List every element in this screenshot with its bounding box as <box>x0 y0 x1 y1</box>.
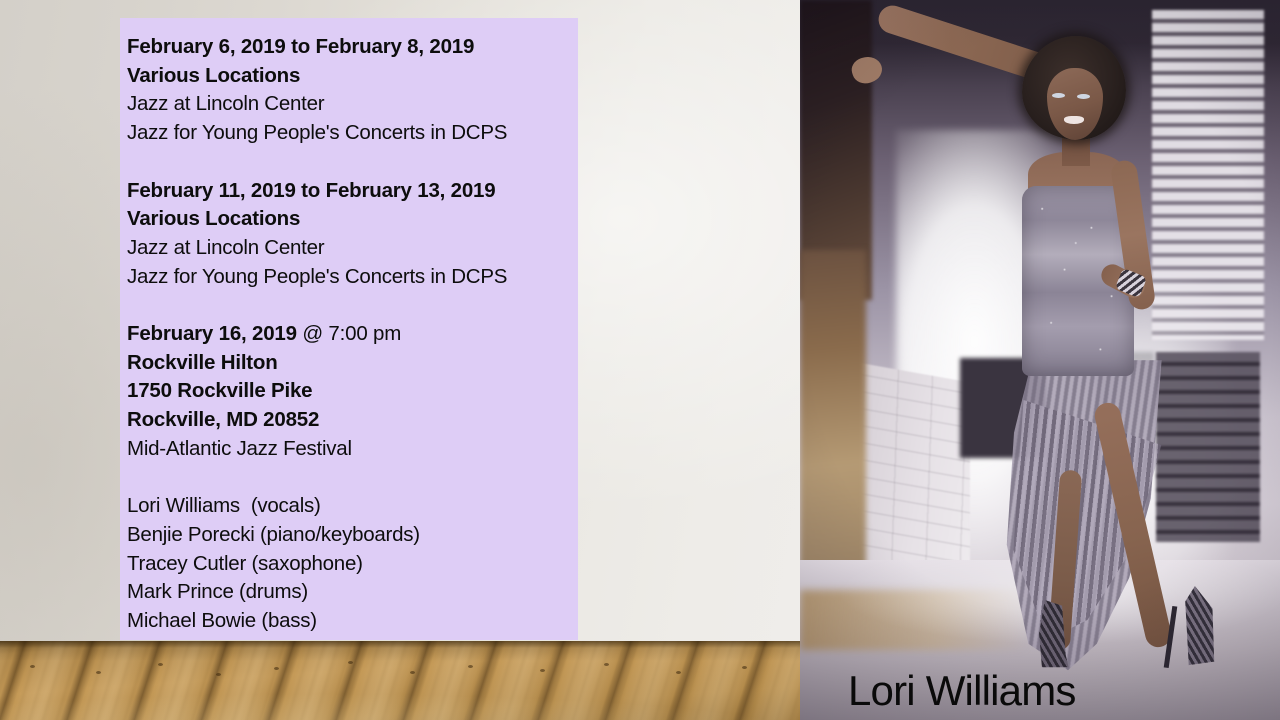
panel-line: Lori Williams (vocals) <box>127 492 578 521</box>
panel-line: Jazz at Lincoln Center <box>127 90 578 119</box>
panel-line: February 11, 2019 to February 13, 2019 <box>127 177 578 206</box>
panel-line: February 6, 2019 to February 8, 2019 <box>127 33 578 62</box>
panel-block-spacer <box>127 464 578 493</box>
panel-line: Mark Prince (drums) <box>127 578 578 607</box>
panel-line: 1750 Rockville Pike <box>127 377 578 406</box>
panel-line: Michael Bowie (bass) <box>127 607 578 636</box>
performer-photo <box>800 0 1280 720</box>
panel-line: Jazz at Lincoln Center <box>127 234 578 263</box>
panel-line: Rockville Hilton <box>127 349 578 378</box>
floor-shading <box>0 641 800 720</box>
panel-line: Jazz for Young People's Concerts in DCPS <box>127 119 578 148</box>
panel-line: Benjie Porecki (piano/keyboards) <box>127 521 578 550</box>
wooden-floor-strip <box>0 641 800 720</box>
panel-line: Jazz for Young People's Concerts in DCPS <box>127 263 578 292</box>
panel-line: Mid-Atlantic Jazz Festival <box>127 435 578 464</box>
photo-vignette <box>800 0 1280 720</box>
panel-line-tail: @ 7:00 pm <box>302 322 401 345</box>
panel-block-spacer <box>127 291 578 320</box>
panel-line: Tracey Cutler (saxophone) <box>127 550 578 579</box>
panel-block-spacer <box>127 148 578 177</box>
panel-line: February 16, 2019 @ 7:00 pm <box>127 320 578 349</box>
panel-line: Rockville, MD 20852 <box>127 406 578 435</box>
panel-line: Various Locations <box>127 205 578 234</box>
slide-canvas: February 6, 2019 to February 8, 2019Vari… <box>0 0 1280 720</box>
photo-caption: Lori Williams <box>848 668 1076 714</box>
panel-line: Various Locations <box>127 62 578 91</box>
event-details-panel: February 6, 2019 to February 8, 2019Vari… <box>120 18 578 640</box>
